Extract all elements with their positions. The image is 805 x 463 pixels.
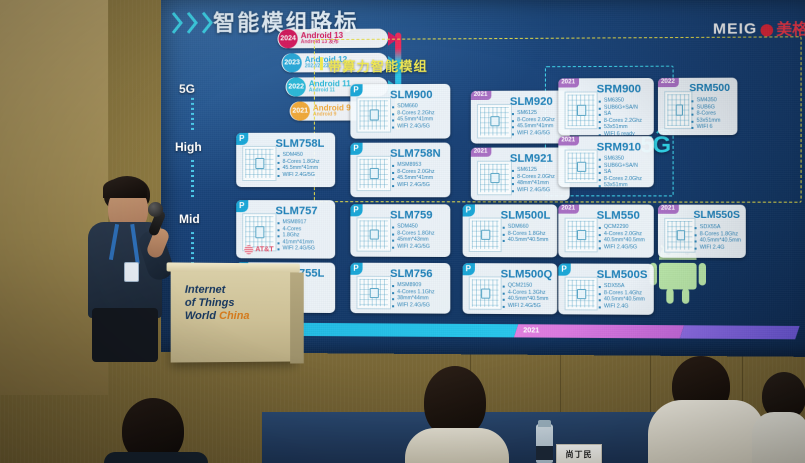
podium-line-1: Internet <box>185 284 250 297</box>
bottle-cap <box>538 420 551 427</box>
podium-line-2: of Things <box>185 297 250 310</box>
podium-top <box>167 262 300 272</box>
podium-line-3: World China <box>185 310 250 323</box>
audience-name-card: 尚丁民 <box>556 444 602 463</box>
bottle-label <box>536 446 553 460</box>
presentation-photo: 智能模组路标 MEIG 美格 5G High Mid 2024Android 1… <box>0 0 805 463</box>
podium-branding: Internet of Things World China <box>185 284 250 323</box>
podium: Internet of Things World China <box>171 267 296 362</box>
podium-side <box>290 272 304 363</box>
